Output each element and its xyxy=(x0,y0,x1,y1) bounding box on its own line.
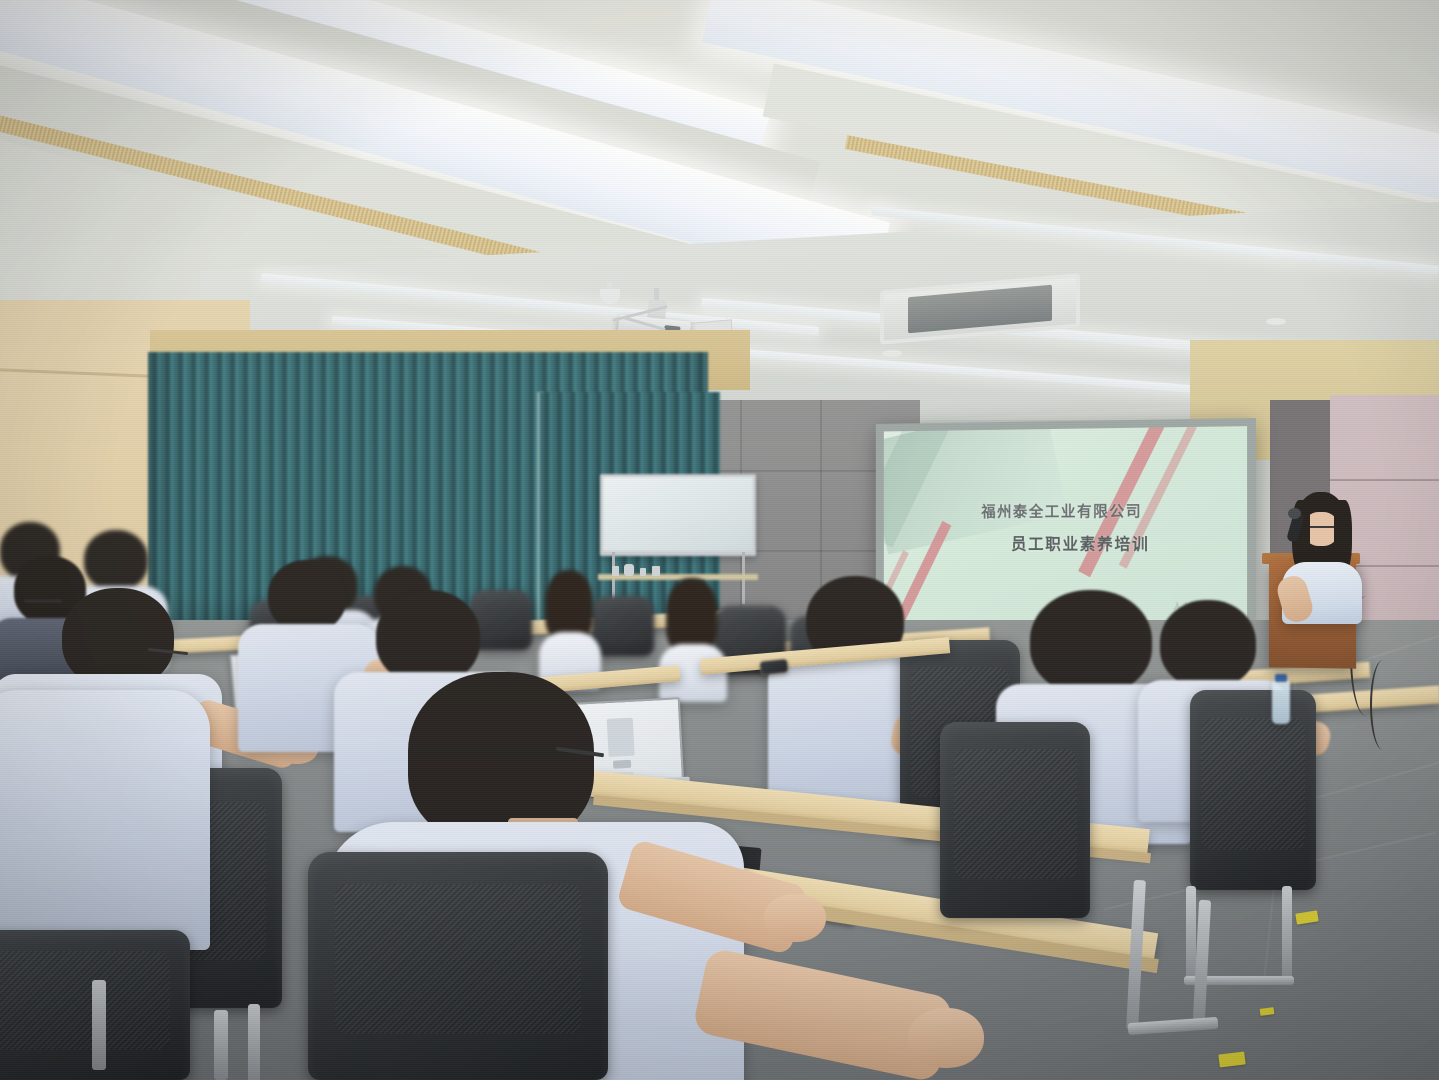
counter-item xyxy=(640,568,646,576)
photo-scene: 福州泰全工业有限公司 员工职业素养培训 人力资源部 课件 xyxy=(0,0,1439,1080)
chair-leg xyxy=(92,980,106,1070)
water-bottle xyxy=(1272,680,1290,724)
counter-item xyxy=(624,564,634,576)
slide-title-line-1: 福州泰全工业有限公司 xyxy=(884,499,1247,522)
audio-cable xyxy=(1370,660,1396,750)
microphone-head xyxy=(1288,508,1301,519)
bottle-cap xyxy=(1275,674,1287,682)
smoke-detector-icon xyxy=(1266,318,1286,325)
chair-leg xyxy=(214,1010,228,1080)
chair xyxy=(592,596,654,656)
smoke-detector-icon xyxy=(882,350,902,357)
chair xyxy=(940,722,1090,918)
smartphone[interactable] xyxy=(759,659,788,676)
whiteboard xyxy=(600,474,756,556)
chair-foreground xyxy=(308,852,608,1080)
chair xyxy=(1190,690,1316,890)
back-counter xyxy=(598,574,758,580)
slide-title-line-2: 员工职业素养培训 xyxy=(884,531,1247,555)
counter-item xyxy=(612,566,619,576)
counter-item xyxy=(652,566,660,576)
